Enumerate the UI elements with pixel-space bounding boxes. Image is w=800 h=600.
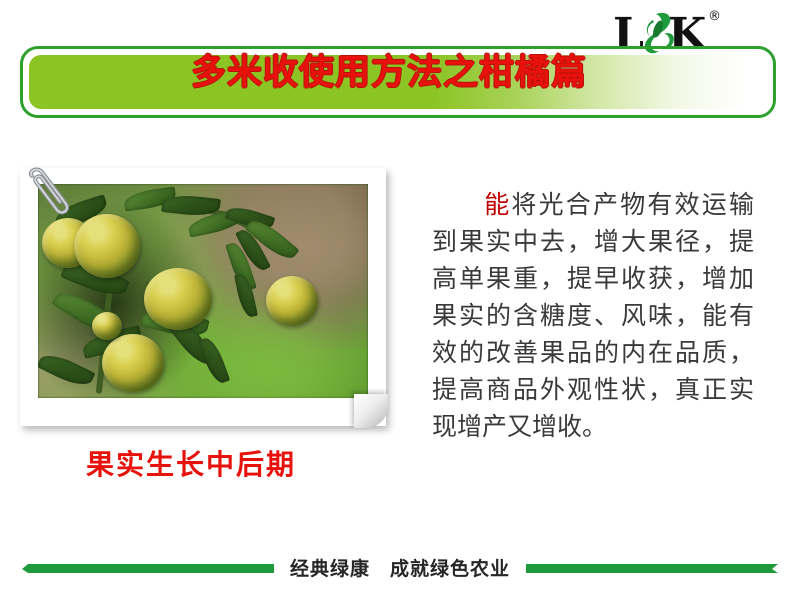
photo-card (20, 168, 386, 426)
registered-trademark-symbol: ® (708, 9, 721, 24)
photo-citrus-fruit (74, 214, 140, 278)
page-title: 多米收使用方法之柑橘篇 (20, 51, 758, 95)
footer: 经典绿康成就绿色农业 (0, 556, 800, 586)
photo-caption: 果实生长中后期 (86, 448, 296, 482)
photo-citrus-fruit (266, 276, 318, 326)
footer-slogan-left: 经典绿康 (290, 558, 370, 580)
footer-slogan-right: 成就绿色农业 (390, 558, 510, 580)
footer-slogan: 经典绿康成就绿色农业 (0, 556, 800, 582)
slide-canvas: L K ® 多米收使用方法之柑橘篇 (0, 0, 800, 600)
photo-citrus-fruit (144, 268, 212, 330)
photo-citrus-fruit (92, 312, 122, 340)
citrus-orchard-photo (38, 184, 368, 398)
paragraph-text: 将光合产物有效运输到果实中去，增大果径，提高单果重，提早收获，增加果实的含糖度、… (432, 190, 754, 441)
photo-citrus-fruit (102, 334, 164, 392)
title-banner: 多米收使用方法之柑橘篇 (20, 46, 776, 118)
body-paragraph: 能将光合产物有效运输到果实中去，增大果径，提高单果重，提早收获，增加果实的含糖度… (432, 186, 754, 445)
photo-curled-corner (354, 394, 388, 428)
paragraph-lead-char: 能 (482, 190, 511, 219)
